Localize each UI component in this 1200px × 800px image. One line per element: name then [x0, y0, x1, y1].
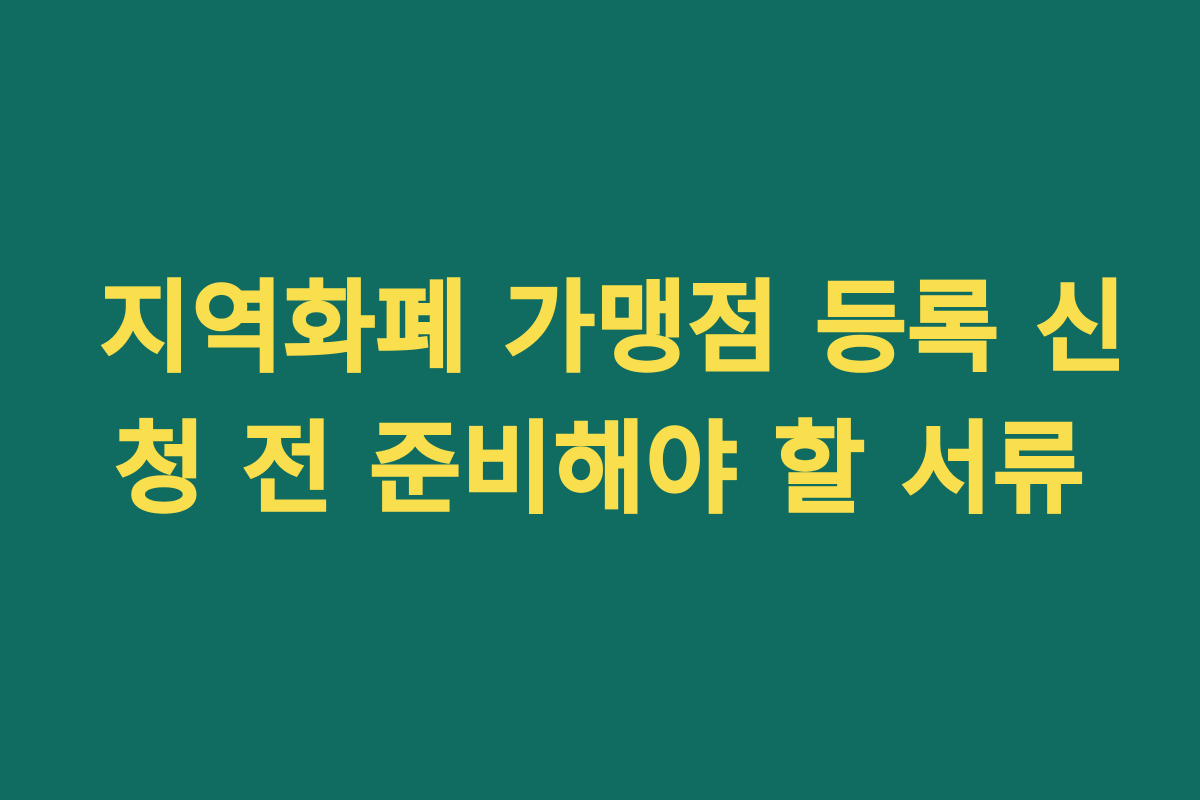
headline-line-1: 지역화폐 가맹점 등록 신: [100, 259, 1100, 400]
banner-canvas: 지역화폐 가맹점 등록 신 청 전 준비해야 할 서류: [0, 0, 1200, 800]
headline-block: 지역화폐 가맹점 등록 신 청 전 준비해야 할 서류: [80, 259, 1120, 540]
headline-line-2: 청 전 준비해야 할 서류: [100, 400, 1100, 541]
